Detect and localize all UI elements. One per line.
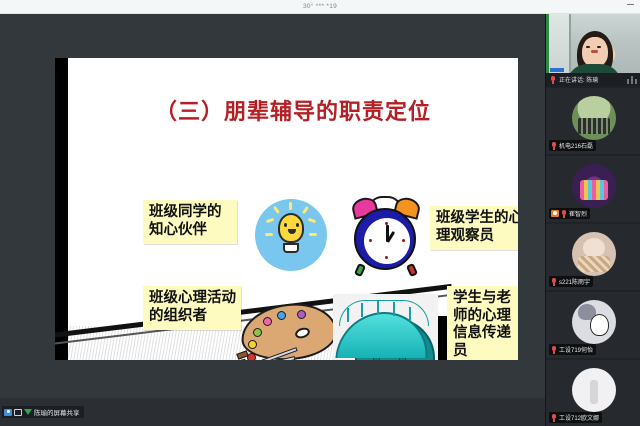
participant-name: s221陈雨宇 [559,277,590,286]
host-badge-icon [551,210,559,217]
screen-share-indicator[interactable]: 陈瑜的屏幕共享 [2,406,84,418]
slide-title: （三）朋辈辅导的职责定位 [68,94,518,126]
cat-cartoon-avatar [572,300,616,344]
participant-tile[interactable]: 工设712欧文娜 [546,360,640,426]
shared-screen-stage[interactable]: （三）朋辈辅导的职责定位 [0,14,545,398]
presentation-slide: （三）朋辈辅导的职责定位 [55,58,518,360]
slide-box-observer: 班级学生的心理观察员 [430,206,518,250]
participant-name: 机电216石磊 [559,141,593,150]
participant-tile[interactable]: 工设719何怡 [546,292,640,360]
slide-left-band [55,58,68,360]
paint-palette-icon [233,298,343,360]
video-badge [550,68,564,72]
slide-box-organizer: 班级心理活动的组织者 [143,286,241,330]
participant-name-bar: 工设719何怡 [549,344,596,355]
group-photo-avatar [572,96,616,140]
download-arrow-icon [24,409,32,415]
microphone-muted-icon [561,210,567,218]
screen-share-label: 陈瑜的屏幕共享 [34,407,80,417]
screen-icon [14,409,22,416]
meeting-window: 30° *** *19 （三）朋辈辅导的职责定位 [0,0,640,426]
person-icon [4,409,12,416]
window-title: 30° *** *19 [303,3,337,9]
bridge-icon [333,294,438,360]
participant-name-bar: 工设712欧文娜 [549,412,602,423]
dance-photo-avatar [572,164,616,208]
participant-name: 崔智烈 [569,209,587,218]
participant-tile[interactable]: 崔智烈 [546,156,640,224]
white-sketch-avatar [572,368,616,412]
slide-box-confidant: 班级同学的知心伙伴 [143,200,237,244]
dog-avatar [572,232,616,276]
microphone-muted-icon [551,278,557,286]
participant-name-bar: s221陈雨宇 [549,276,593,287]
microphone-icon [550,76,556,84]
participant-tile[interactable]: s221陈雨宇 [546,224,640,292]
lightbulb-icon [255,199,327,271]
participant-rail[interactable]: 正在讲话: 陈瑜 机电216石磊 崔智烈 [545,14,640,426]
audio-wave-icon [627,76,638,84]
window-title-bar: 30° *** *19 [0,0,640,14]
bottom-toolbar: 陈瑜的屏幕共享 [0,398,545,426]
microphone-muted-icon [551,414,557,422]
minimize-icon[interactable] [627,4,634,5]
speaking-status-label: 正在讲话: 陈瑜 [559,75,598,84]
slide-box-messenger: 学生与老师的心理信息传递员 [447,286,518,360]
participant-tile-active-speaker[interactable]: 正在讲话: 陈瑜 [546,14,640,88]
participant-name: 工设712欧文娜 [559,413,599,422]
microphone-muted-icon [551,346,557,354]
participant-name: 工设719何怡 [559,345,593,354]
participant-name-bar: 机电216石磊 [549,140,596,151]
microphone-muted-icon [551,142,557,150]
speaking-status-bar: 正在讲话: 陈瑜 [546,73,640,86]
participant-name-bar: 崔智烈 [549,208,590,219]
participant-tile[interactable]: 机电216石磊 [546,88,640,156]
alarm-clock-icon [348,196,424,274]
